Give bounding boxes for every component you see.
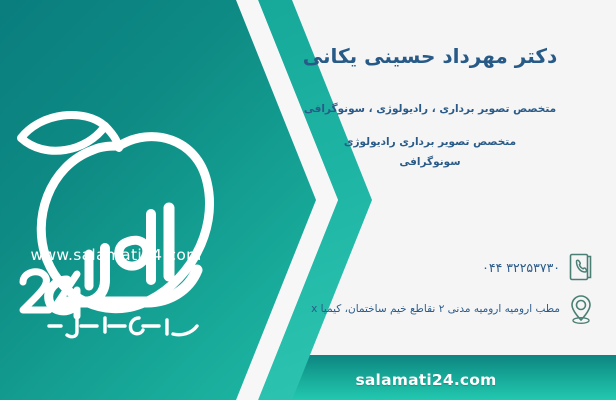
specialty-line-secondary-b: سونوگرافی — [270, 153, 590, 173]
specialty-line-secondary-a: متخصص تصویر برداری رادیولوژی — [270, 133, 590, 153]
specialty-line-primary: متخصص تصویر برداری ، رادیولوژی ، سونوگرا… — [270, 103, 590, 115]
contact-row-phone[interactable]: ۳۲۲۵۳۷۳۰ ۰۴۴ — [472, 248, 598, 286]
salamati24-logo-mark — [1, 104, 233, 374]
location-pin-icon — [564, 290, 598, 328]
address-text: مطب ارومیه ارومیه مدنی ۲ نقاطع خیم ساختم… — [301, 303, 564, 315]
phone-book-icon — [564, 248, 598, 286]
business-card: salamati24.com — [0, 0, 616, 400]
contact-row-address[interactable]: مطب ارومیه ارومیه مدنی ۲ نقاطع خیم ساختم… — [301, 290, 598, 328]
specialty-line-secondary: متخصص تصویر برداری رادیولوژی سونوگرافی — [270, 133, 590, 173]
logo-tagline — [49, 316, 197, 337]
phone-number: ۳۲۲۵۳۷۳۰ ۰۴۴ — [472, 260, 564, 275]
logo-url-label: www.salamati24.com — [0, 246, 232, 264]
doctor-name: دکتر مهرداد حسینی یکانی — [270, 42, 590, 70]
logo-digit-2 — [23, 272, 49, 310]
